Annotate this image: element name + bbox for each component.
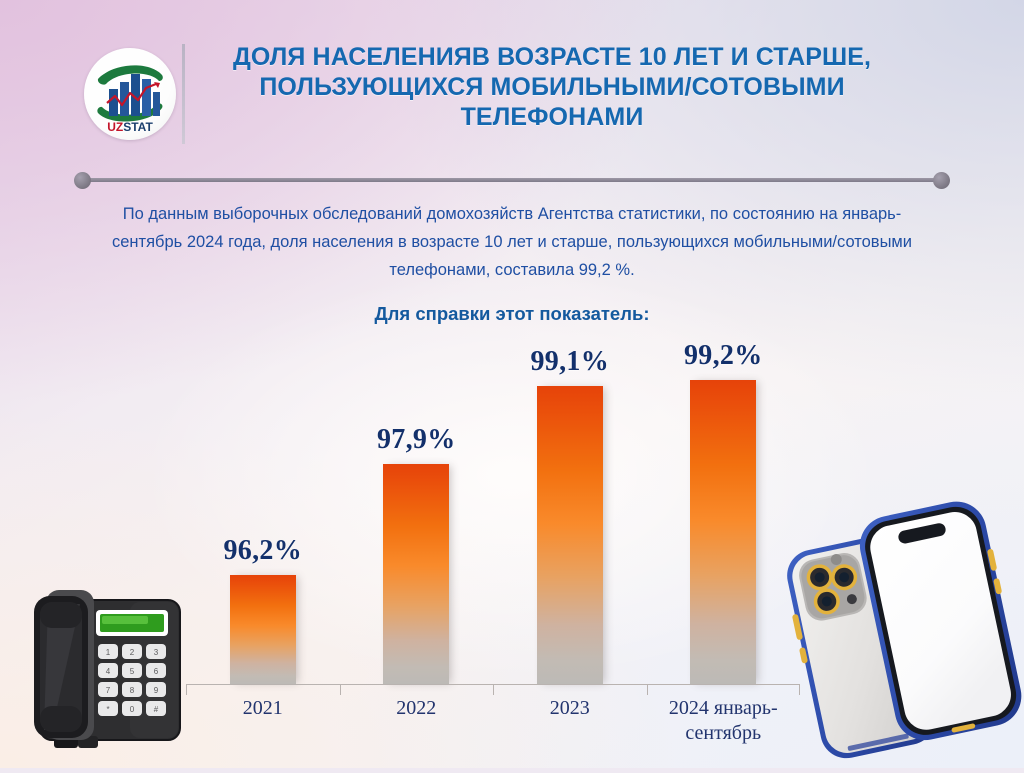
chart-x-axis (186, 684, 800, 685)
chart-subtitle: Для справки этот показатель: (92, 303, 932, 325)
divider-dot-right-icon (933, 172, 950, 189)
svg-text:0: 0 (130, 705, 135, 714)
axis-tick (340, 684, 341, 695)
bar[interactable] (690, 380, 756, 685)
bar-value-label: 99,2% (684, 340, 763, 372)
bar-value-label: 96,2% (224, 535, 303, 567)
svg-text:9: 9 (154, 686, 159, 695)
svg-text:3: 3 (154, 648, 159, 657)
chart-plot-area: 96,2%97,9%99,1%99,2% (186, 340, 800, 685)
bar-group: 96,2% (186, 340, 340, 685)
category-label: 2024 январь-сентябрь (647, 696, 801, 746)
smartphones-illustration (786, 498, 1024, 768)
svg-text:#: # (154, 705, 159, 714)
svg-text:6: 6 (154, 667, 159, 676)
landline-phone-icon: 123 456 789 *0# (18, 578, 198, 768)
category-label: 2022 (340, 696, 494, 721)
bar[interactable] (230, 575, 296, 685)
chart-category-labels: 2021202220232024 январь-сентябрь (186, 696, 800, 760)
logo-artwork: UZSTAT (84, 48, 176, 140)
bar[interactable] (383, 464, 449, 685)
smartphone-pair-icon (786, 498, 1024, 768)
logo-circle: UZSTAT (84, 48, 176, 140)
page-title: ДОЛЯ НАСЕЛЕНИЯВ ВОЗРАСТЕ 10 ЛЕТ И СТАРШЕ… (192, 42, 912, 132)
bar-group: 99,1% (493, 340, 647, 685)
bar-group: 99,2% (647, 340, 801, 685)
bar-group: 97,9% (340, 340, 494, 685)
landline-phone-illustration: 123 456 789 *0# (18, 578, 198, 768)
svg-text:1: 1 (106, 648, 111, 657)
svg-text:UZSTAT: UZSTAT (107, 120, 153, 134)
svg-text:7: 7 (106, 686, 111, 695)
bar-value-label: 97,9% (377, 424, 456, 456)
divider-dot-left-icon (74, 172, 91, 189)
axis-tick (647, 684, 648, 695)
uzstat-logo: UZSTAT (84, 48, 176, 140)
category-label: 2023 (493, 696, 647, 721)
svg-text:8: 8 (130, 686, 135, 695)
header: UZSTAT ДОЛЯ НАСЕЛЕНИЯВ ВОЗРАСТЕ 10 ЛЕТ И… (0, 44, 1024, 164)
svg-text:4: 4 (106, 667, 111, 676)
svg-text:5: 5 (130, 667, 135, 676)
divider-line (82, 178, 942, 182)
bar[interactable] (537, 386, 603, 685)
svg-text:*: * (106, 705, 109, 714)
svg-text:2: 2 (130, 648, 135, 657)
section-divider (74, 172, 950, 188)
axis-tick (493, 684, 494, 695)
lede-paragraph: По данным выборочных обследований домохо… (92, 200, 932, 284)
bar-value-label: 99,1% (531, 346, 610, 378)
title-divider-rule (182, 44, 185, 144)
category-label: 2021 (186, 696, 340, 721)
